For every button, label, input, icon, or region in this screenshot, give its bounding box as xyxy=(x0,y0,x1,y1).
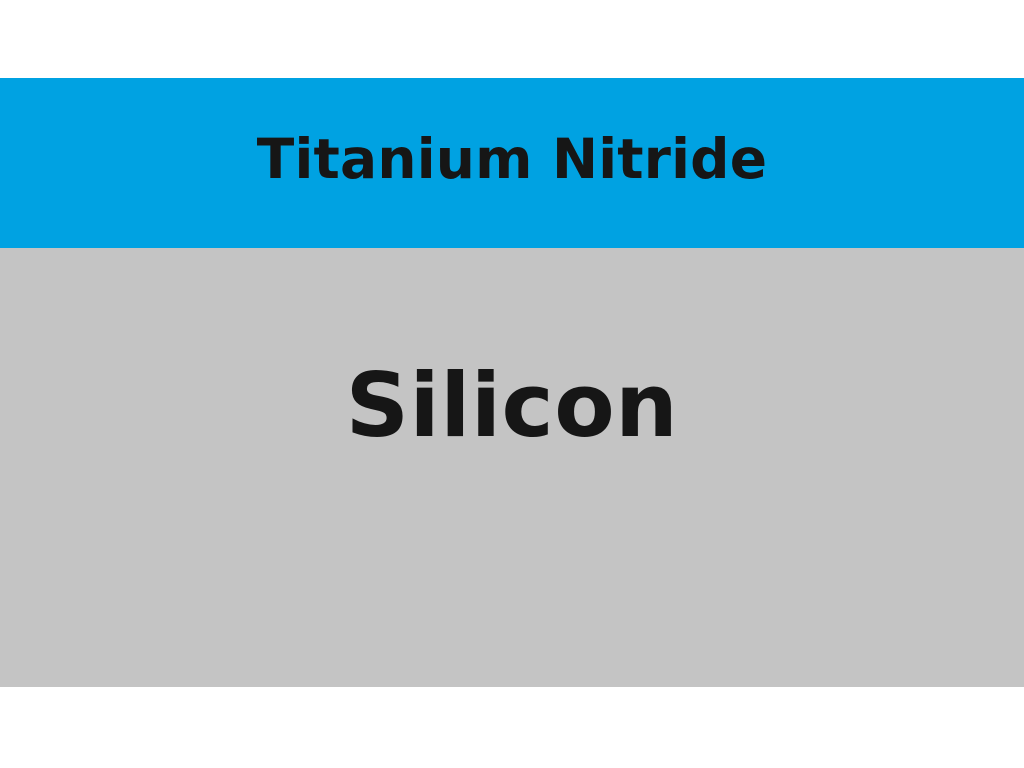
layer-titanium-nitride: Titanium Nitride xyxy=(0,78,1024,248)
layer-stack: Titanium Nitride Silicon xyxy=(0,78,1024,687)
layer-silicon-label: Silicon xyxy=(346,362,679,450)
material-stack-diagram: Titanium Nitride Silicon xyxy=(0,0,1024,768)
layer-silicon: Silicon xyxy=(0,248,1024,687)
layer-titanium-nitride-label: Titanium Nitride xyxy=(257,132,767,187)
